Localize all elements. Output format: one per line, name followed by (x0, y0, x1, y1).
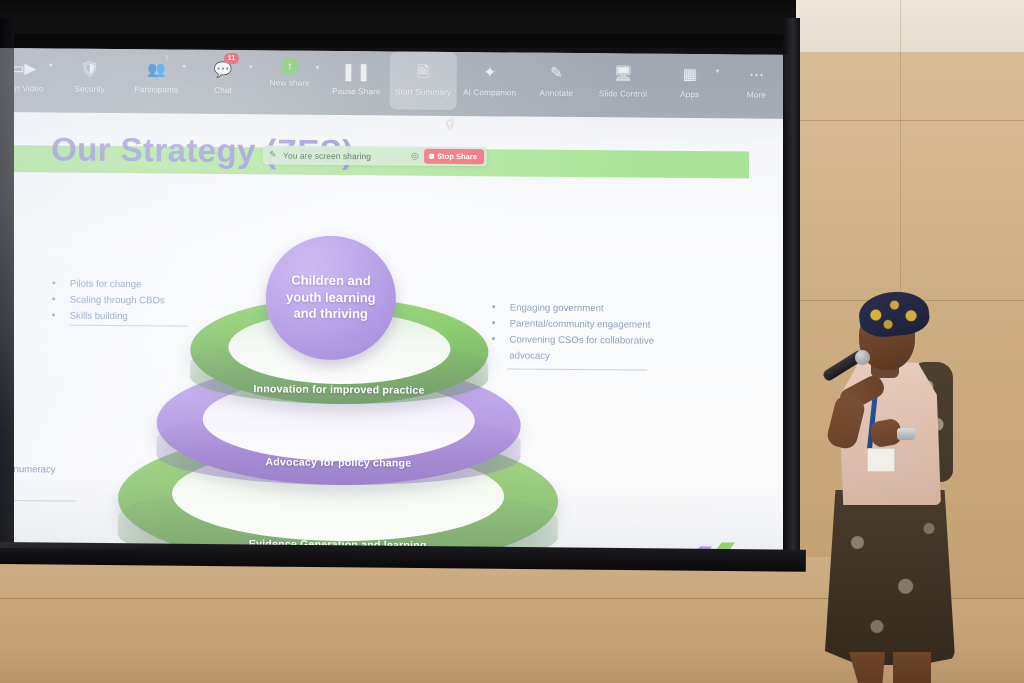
list-item: Convening CSOs for collaborative advocac… (483, 332, 673, 366)
toolbar-button-new-share[interactable]: ↑ New share ▾ (256, 50, 323, 109)
apps-icon: ▦ (683, 62, 697, 86)
toolbar-button-security[interactable]: 🛡 Security (56, 48, 123, 107)
toolbar-label: Chat (214, 86, 232, 95)
upper-wall-panel (788, 0, 1024, 52)
list-item: Pilots for change (44, 276, 234, 294)
presenter-name-badge (867, 448, 895, 472)
list-item: Scaling through CBOs (44, 292, 234, 310)
participants-count: 7 (165, 55, 169, 62)
pause-icon: ❚❚ (341, 59, 372, 83)
list-item: Parental/community engagement (484, 316, 674, 334)
presenter-leg (893, 652, 931, 683)
slide-control-icon: 🖥 (614, 61, 633, 85)
presenter-person (815, 300, 1005, 683)
toolbar-label: Start Summary (395, 87, 451, 96)
shield-icon: 🛡 (80, 57, 99, 81)
sparkle-icon: ✦ (483, 60, 496, 84)
divider (70, 325, 188, 327)
chevron-down-icon[interactable]: ▾ (182, 63, 186, 71)
toolbar-button-participants[interactable]: 👥 7 Participants ▾ (123, 49, 190, 108)
toolbar-label: Apps (680, 90, 699, 99)
toolbar-button-annotate[interactable]: ✎ Annotate (523, 53, 590, 112)
toolbar-label: Pause Share (332, 87, 381, 96)
screen-left-edge (0, 18, 14, 558)
scene: Our Strategy (ZES) Pilots for change Sca… (0, 0, 1024, 683)
toolbar-button-pause-share[interactable]: ❚❚ Pause Share (323, 51, 390, 110)
chat-unread-badge: 11 (224, 53, 239, 64)
toolbar-label: More (747, 91, 766, 100)
pencil-icon[interactable]: ✎ (263, 149, 283, 160)
chevron-down-icon[interactable]: ▾ (316, 64, 320, 72)
toolbar-label: Annotate (540, 89, 574, 98)
shared-screen-surface: Our Strategy (ZES) Pilots for change Sca… (0, 48, 788, 555)
chevron-down-icon[interactable]: ▾ (716, 67, 720, 75)
screen-right-edge (783, 18, 800, 564)
stop-share-button[interactable]: Stop Share (424, 149, 484, 165)
toolbar-label: Participants (134, 85, 178, 94)
list-item: Engaging government (484, 300, 674, 318)
green-share-icon: ↑ (282, 58, 298, 74)
bullet-list-right: Engaging government Parental/community e… (483, 300, 674, 366)
ellipsis-icon: ⋯ (749, 63, 764, 87)
chevron-down-icon[interactable]: ▾ (249, 63, 253, 71)
toolbar-button-slide-control[interactable]: 🖥 Slide Control (590, 53, 657, 112)
video-camera-icon: ▭▶ (10, 56, 36, 80)
presenter-wristwatch (897, 428, 915, 440)
stop-square-icon (429, 154, 434, 159)
toolbar-label: AI Companion (463, 88, 516, 97)
people-icon: 👥 (147, 57, 166, 81)
list-item: al literacy/numeracy (0, 462, 122, 479)
pencil-icon: ✎ (550, 61, 563, 85)
presenter-skirt (825, 490, 955, 665)
screen-share-status-bar: ✎ You are screen sharing ◎ Stop Share (263, 145, 487, 166)
presentation-slide: Our Strategy (ZES) Pilots for change Sca… (0, 48, 788, 555)
chevron-down-icon[interactable]: ▾ (49, 61, 53, 69)
dot-icon[interactable]: ◎ (406, 151, 424, 162)
toolbar-button-chat[interactable]: 💬 11 Chat ▾ (190, 50, 257, 109)
list-item: fe skills (0, 478, 122, 495)
microphone-head-icon (855, 350, 870, 365)
toolbar-label: New share (270, 78, 310, 87)
bullet-list-left: Pilots for change Scaling through CBOs S… (44, 276, 234, 326)
list-item: Skills building (44, 308, 234, 326)
divider (507, 368, 647, 370)
bullet-list-bottom-left: al literacy/numeracy fe skills (0, 462, 122, 495)
toolbar-button-start-summary[interactable]: 🗎 Start Summary (390, 51, 457, 110)
projector-screen: Our Strategy (ZES) Pilots for change Sca… (0, 18, 800, 558)
toolbar-button-more[interactable]: ⋯ More (723, 54, 788, 113)
toolbar-label: Slide Control (599, 89, 647, 98)
toolbar-button-ai-companion[interactable]: ✦ AI Companion (456, 52, 523, 111)
share-status-text: You are screen sharing (283, 150, 406, 161)
center-sphere-label: Children and youth learning and thriving (266, 273, 396, 324)
zoom-meeting-toolbar: ▭▶ Start Video ▾ 🛡 Security 👥 7 Particip… (0, 48, 788, 119)
summary-doc-icon: 🗎 (417, 60, 429, 84)
stop-share-label: Stop Share (437, 152, 477, 161)
wall-seam (788, 120, 1024, 121)
center-sphere: Children and youth learning and thriving (265, 235, 396, 360)
screen-top-rail (0, 34, 796, 48)
toolbar-label: Security (74, 85, 104, 94)
toolbar-button-apps[interactable]: ▦ Apps ▾ (656, 54, 723, 113)
